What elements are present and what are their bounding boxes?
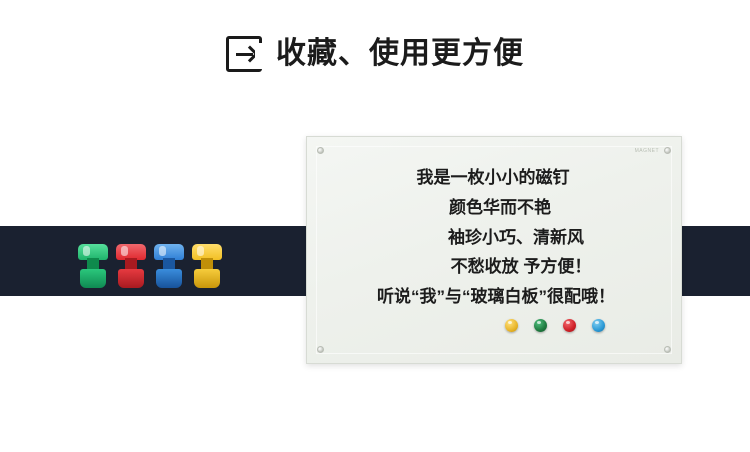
icon-cut	[255, 43, 263, 69]
pin-base	[194, 269, 220, 288]
page-title: 收藏、使用更方便	[276, 39, 524, 69]
board-text-block: 我是一枚小小的磁钉 颜色华而不艳 袖珍小巧、清新风 不愁收放 予方便！ 听说“我…	[325, 163, 661, 312]
pin-base	[80, 269, 106, 288]
magnet-pin-row	[78, 244, 222, 290]
board-line-4: 不愁收放 予方便！	[325, 252, 661, 282]
dot-blue	[592, 319, 605, 332]
dot-yellow	[505, 319, 518, 332]
glass-board: MAGNET 我是一枚小小的磁钉 颜色华而不艳 袖珍小巧、清新风 不愁收放 予方…	[306, 136, 682, 364]
dot-green	[534, 319, 547, 332]
board-screw-bottom-left	[317, 346, 324, 353]
board-line-5: 听说“我”与“玻璃白板”很配哦！	[325, 282, 661, 312]
board-line-3: 袖珍小巧、清新风	[325, 223, 661, 253]
board-tag: MAGNET	[635, 148, 659, 154]
board-screw-top-left	[317, 147, 324, 154]
pin-green	[78, 244, 108, 290]
pin-gloss	[83, 246, 90, 256]
board-screw-bottom-right	[664, 346, 671, 353]
pin-gloss	[159, 246, 166, 256]
pin-gloss	[121, 246, 128, 256]
pin-yellow	[192, 244, 222, 290]
save-collect-icon	[226, 36, 262, 72]
board-screw-top-right	[664, 147, 671, 154]
promo-page: 收藏、使用更方便	[0, 0, 750, 452]
pin-gloss	[197, 246, 204, 256]
board-magnet-dots	[505, 319, 605, 332]
pin-red	[116, 244, 146, 290]
pin-blue	[154, 244, 184, 290]
dot-red	[563, 319, 576, 332]
pin-base	[118, 269, 144, 288]
page-header: 收藏、使用更方便	[0, 36, 750, 72]
board-line-1: 我是一枚小小的磁钉	[325, 163, 661, 193]
pin-base	[156, 269, 182, 288]
board-line-2: 颜色华而不艳	[325, 193, 661, 223]
